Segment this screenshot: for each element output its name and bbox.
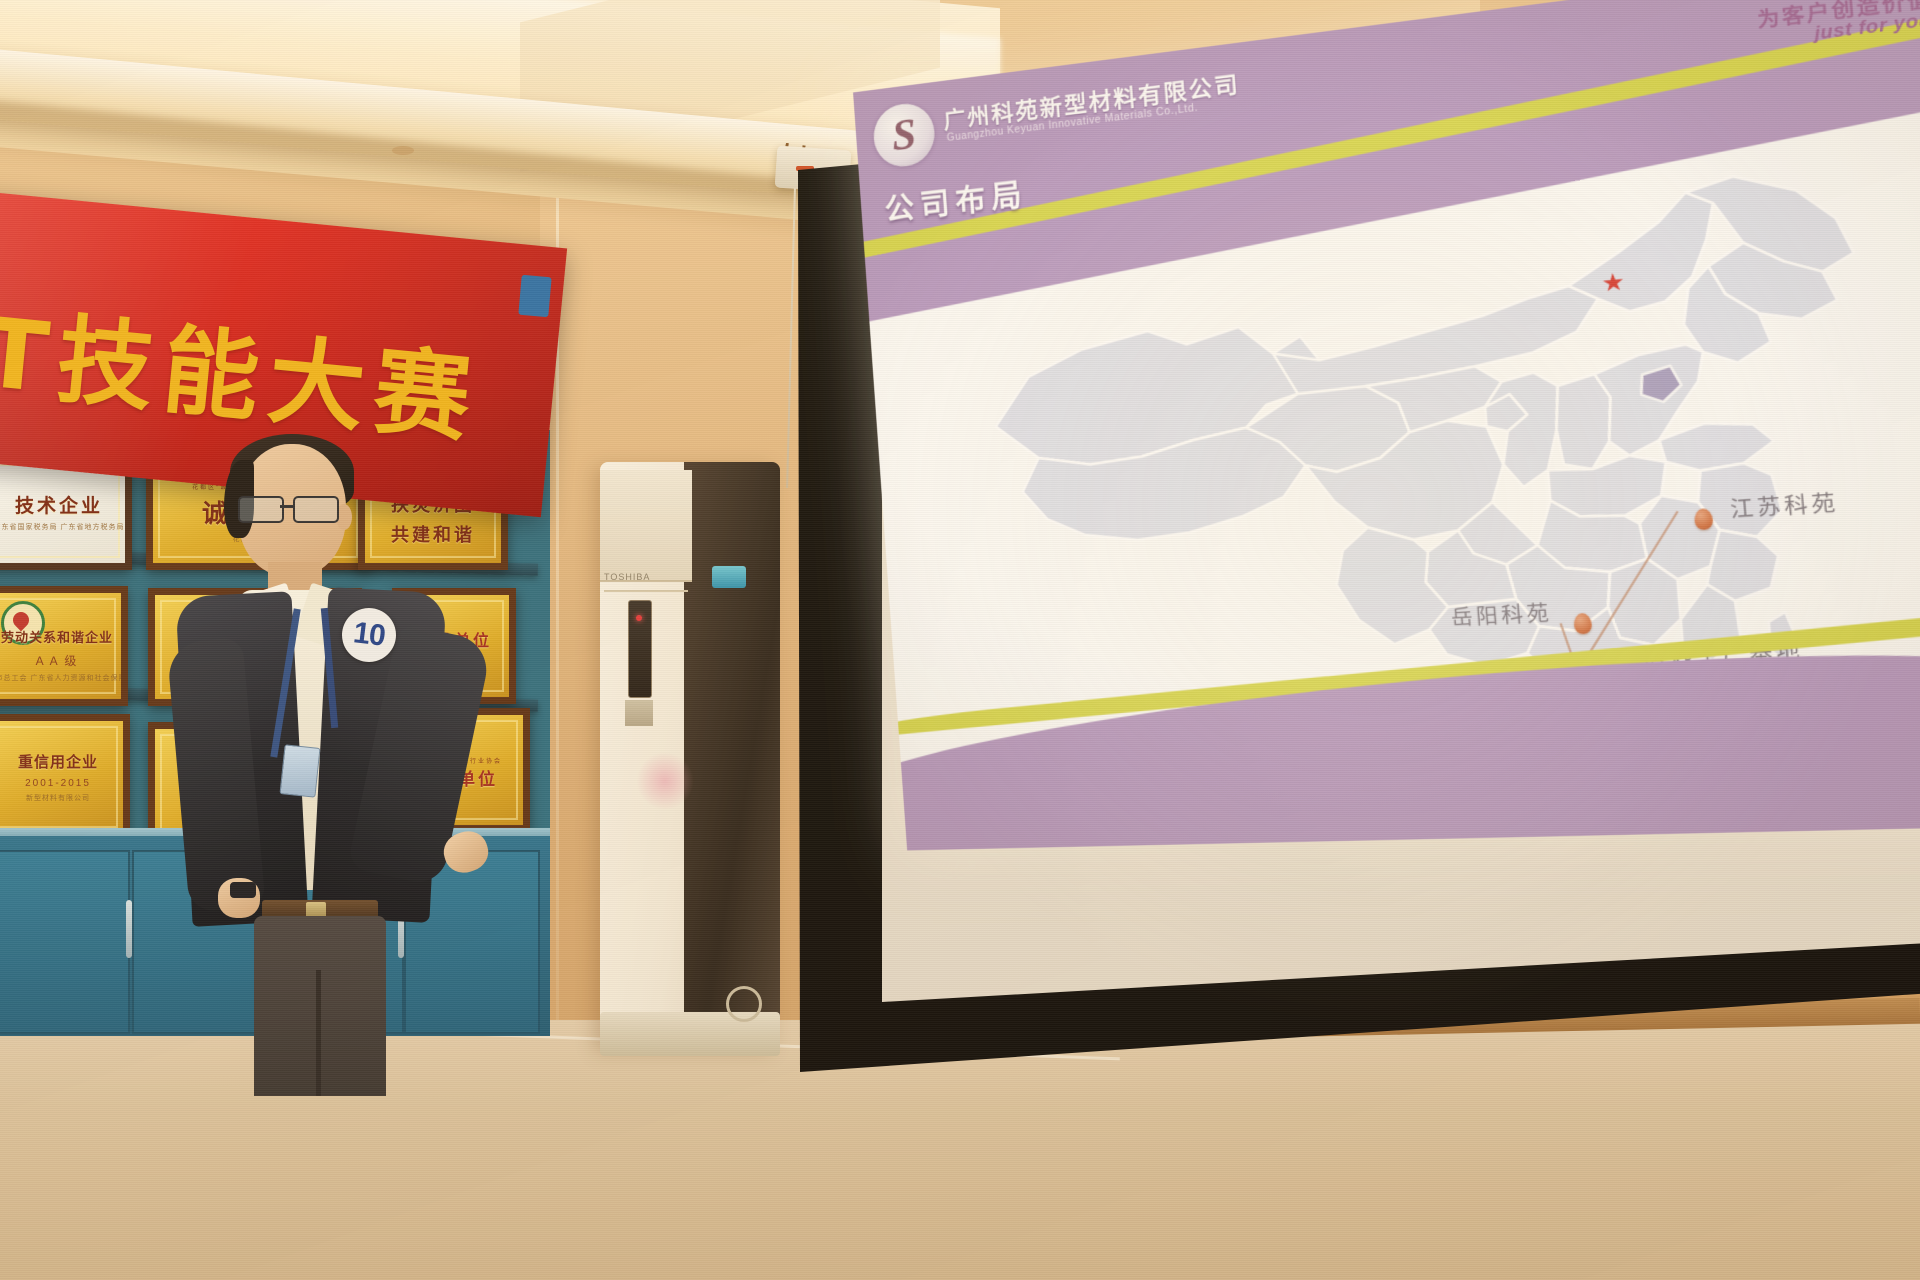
glasses-bridge [280,505,293,508]
logo-glyph: S [891,112,918,159]
smoke-detector-icon [392,146,414,155]
plaque-title: 重信用企业 [18,751,98,772]
presenter: 10 [176,430,536,1080]
plaque-fine: 广东省国家税务局 广东省地方税务局 [0,522,124,532]
decal-flower-icon [636,752,694,810]
banner-tie-icon [518,275,551,317]
map-label-jiangsu: 江苏科苑 [1729,486,1840,523]
plaque-fine: 广州市总工会 广东省人力资源和社会保障厅 [0,673,128,683]
plaque-fine: 新型材料有限公司 [26,793,90,803]
cabinet-handle[interactable] [126,900,132,958]
presentation-clicker[interactable] [230,882,256,898]
contestant-number: 10 [351,616,386,654]
air-conditioner-knob[interactable] [726,986,762,1022]
plaque-inner: 技术企业 广东省国家税务局 广东省地方税务局 [0,464,120,558]
air-conditioner-label [625,700,653,726]
eyeglasses-icon [238,496,348,520]
lens-left [238,496,284,523]
slide-canvas: S 广州科苑新型材料有限公司 Guangzhou Keyuan Innovati… [853,0,1920,850]
id-badge [279,744,320,797]
plaque-award: 重信用企业 2001-2015 新型材料有限公司 [0,714,130,840]
plaque-sub: 2001-2015 [25,778,91,789]
air-conditioner-grille [600,470,692,582]
power-led-icon [636,615,642,621]
air-conditioner-panel-line [604,590,688,592]
leg-separation [316,970,321,1096]
air-conditioner-badge [712,566,746,588]
capital-star-icon: ★ [1601,270,1626,296]
cabinet-door[interactable] [0,850,130,1034]
map-label-yueyang: 岳阳科苑 [1450,597,1553,631]
lens-right [293,496,339,523]
plaque-inner: 重信用企业 2001-2015 新型材料有限公司 [0,726,118,828]
plaque-sub: A A 级 [36,652,79,669]
plaque-award: 劳动关系和谐企业 A A 级 广州市总工会 广东省人力资源和社会保障厅 [0,586,128,706]
plaque-inner: 劳动关系和谐企业 A A 级 广州市总工会 广东省人力资源和社会保障厅 [0,598,116,694]
air-conditioner-side [684,462,780,1048]
plaque-title: 劳动关系和谐企业 [1,627,113,646]
projected-slide: S 广州科苑新型材料有限公司 Guangzhou Keyuan Innovati… [853,0,1920,850]
photo-scene: 技术企业 广东省国家税务局 广东省地方税务局 花都区“诚信八十年 守法促发展”活… [0,0,1920,1280]
air-conditioner-brand: TOSHIBA [604,572,650,582]
plaque-title: 技术企业 [15,491,103,518]
